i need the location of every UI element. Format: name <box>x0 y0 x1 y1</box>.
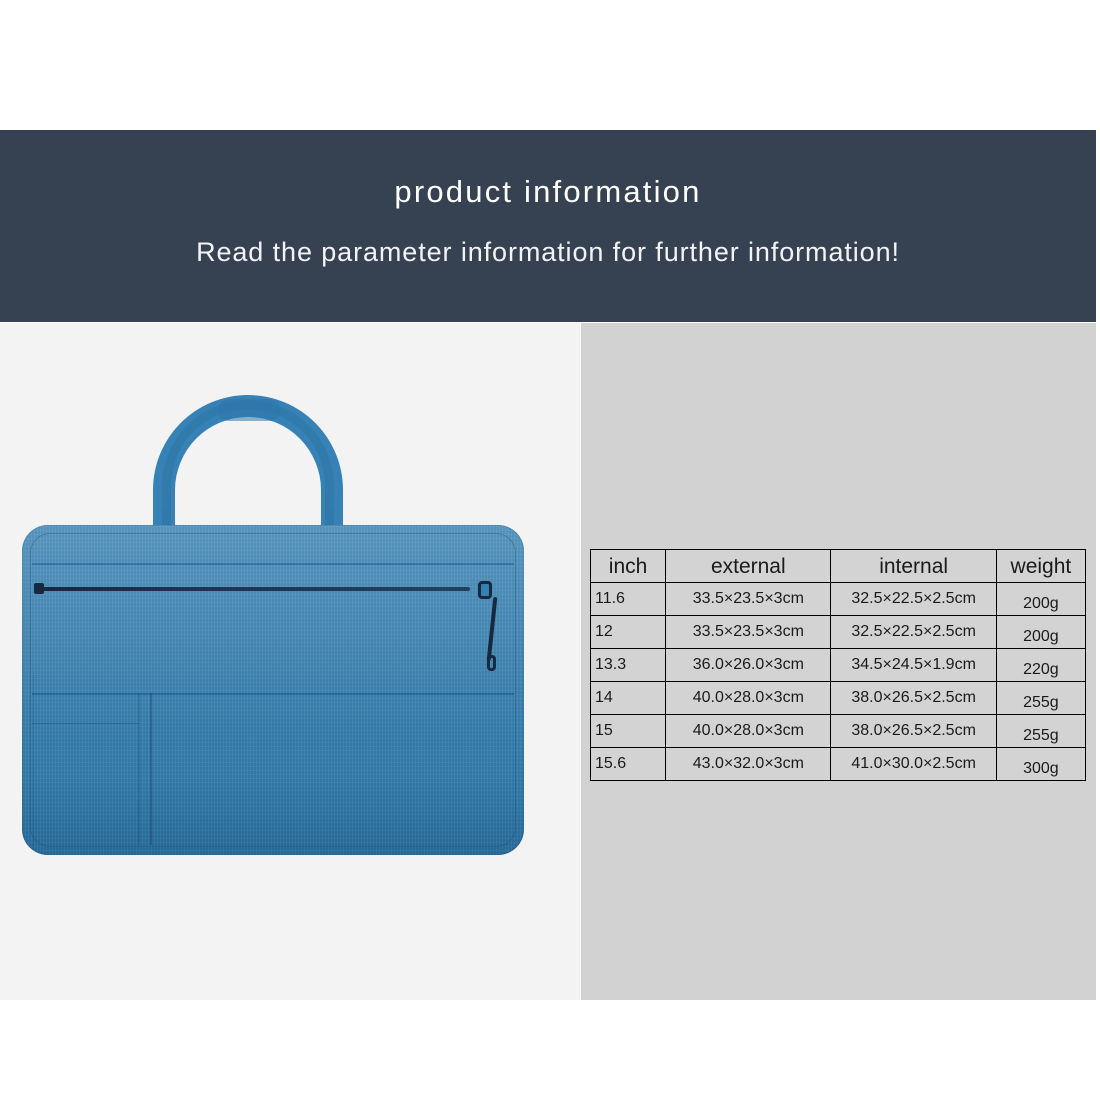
cell-internal: 38.0×26.5×2.5cm <box>831 682 996 715</box>
cell-weight: 300g <box>996 748 1085 781</box>
top-panel-seam <box>32 563 514 565</box>
cell-weight: 255g <box>996 715 1085 748</box>
cell-inch: 11.6 <box>591 583 666 616</box>
column-header-weight: weight <box>996 550 1085 583</box>
column-header-internal: internal <box>831 550 996 583</box>
product-information-page: product information Read the parameter i… <box>0 0 1100 1100</box>
table-header: inch external internal weight <box>591 550 1086 583</box>
table-row: 14 40.0×28.0×3cm 38.0×26.5×2.5cm 255g <box>591 682 1086 715</box>
page-title: product information <box>0 174 1096 210</box>
content-area: inch external internal weight 11.6 33.5×… <box>0 323 1096 1000</box>
cell-external: 36.0×26.0×3cm <box>666 649 831 682</box>
table-row: 13.3 36.0×26.0×3cm 34.5×24.5×1.9cm 220g <box>591 649 1086 682</box>
table-body: 11.6 33.5×23.5×3cm 32.5×22.5×2.5cm 200g … <box>591 583 1086 781</box>
front-pocket-divider-seam <box>150 693 152 845</box>
table-row: 15.6 43.0×32.0×3cm 41.0×30.0×2.5cm 300g <box>591 748 1086 781</box>
cell-external: 33.5×23.5×3cm <box>666 583 831 616</box>
header-banner: product information Read the parameter i… <box>0 130 1096 322</box>
cell-internal: 32.5×22.5×2.5cm <box>831 616 996 649</box>
cell-inch: 14 <box>591 682 666 715</box>
specification-panel: inch external internal weight 11.6 33.5×… <box>581 323 1096 1000</box>
cell-internal: 38.0×26.5×2.5cm <box>831 715 996 748</box>
cell-external: 40.0×28.0×3cm <box>666 682 831 715</box>
cell-internal: 32.5×22.5×2.5cm <box>831 583 996 616</box>
table-row: 11.6 33.5×23.5×3cm 32.5×22.5×2.5cm 200g <box>591 583 1086 616</box>
cell-internal: 34.5×24.5×1.9cm <box>831 649 996 682</box>
cell-external: 33.5×23.5×3cm <box>666 616 831 649</box>
table-row: 12 33.5×23.5×3cm 32.5×22.5×2.5cm 200g <box>591 616 1086 649</box>
table-row: 15 40.0×28.0×3cm 38.0×26.5×2.5cm 255g <box>591 715 1086 748</box>
front-pocket-zipper <box>36 587 470 591</box>
product-image-laptop-bag <box>22 395 524 875</box>
zipper-pull-head-icon <box>478 581 492 599</box>
cell-weight: 200g <box>996 583 1085 616</box>
cell-inch: 13.3 <box>591 649 666 682</box>
cell-inch: 12 <box>591 616 666 649</box>
cell-inch: 15.6 <box>591 748 666 781</box>
column-header-external: external <box>666 550 831 583</box>
product-photo-panel <box>0 323 580 1000</box>
bag-body <box>22 525 524 855</box>
zipper-pull-loop-icon <box>487 655 496 671</box>
page-subtitle: Read the parameter information for furth… <box>0 237 1096 268</box>
handle-grip-wrap <box>218 399 280 421</box>
cell-external: 40.0×28.0×3cm <box>666 715 831 748</box>
cell-weight: 220g <box>996 649 1085 682</box>
cell-inch: 15 <box>591 715 666 748</box>
bag-side-edge <box>23 675 34 847</box>
table-header-row: inch external internal weight <box>591 550 1086 583</box>
front-pocket-divider-shadow <box>138 693 140 845</box>
cell-internal: 41.0×30.0×2.5cm <box>831 748 996 781</box>
side-slip-pocket <box>32 723 138 846</box>
cell-weight: 255g <box>996 682 1085 715</box>
cell-external: 43.0×32.0×3cm <box>666 748 831 781</box>
column-header-inch: inch <box>591 550 666 583</box>
specification-table: inch external internal weight 11.6 33.5×… <box>590 549 1086 781</box>
cell-weight: 200g <box>996 616 1085 649</box>
front-pocket-top-seam <box>32 693 514 695</box>
